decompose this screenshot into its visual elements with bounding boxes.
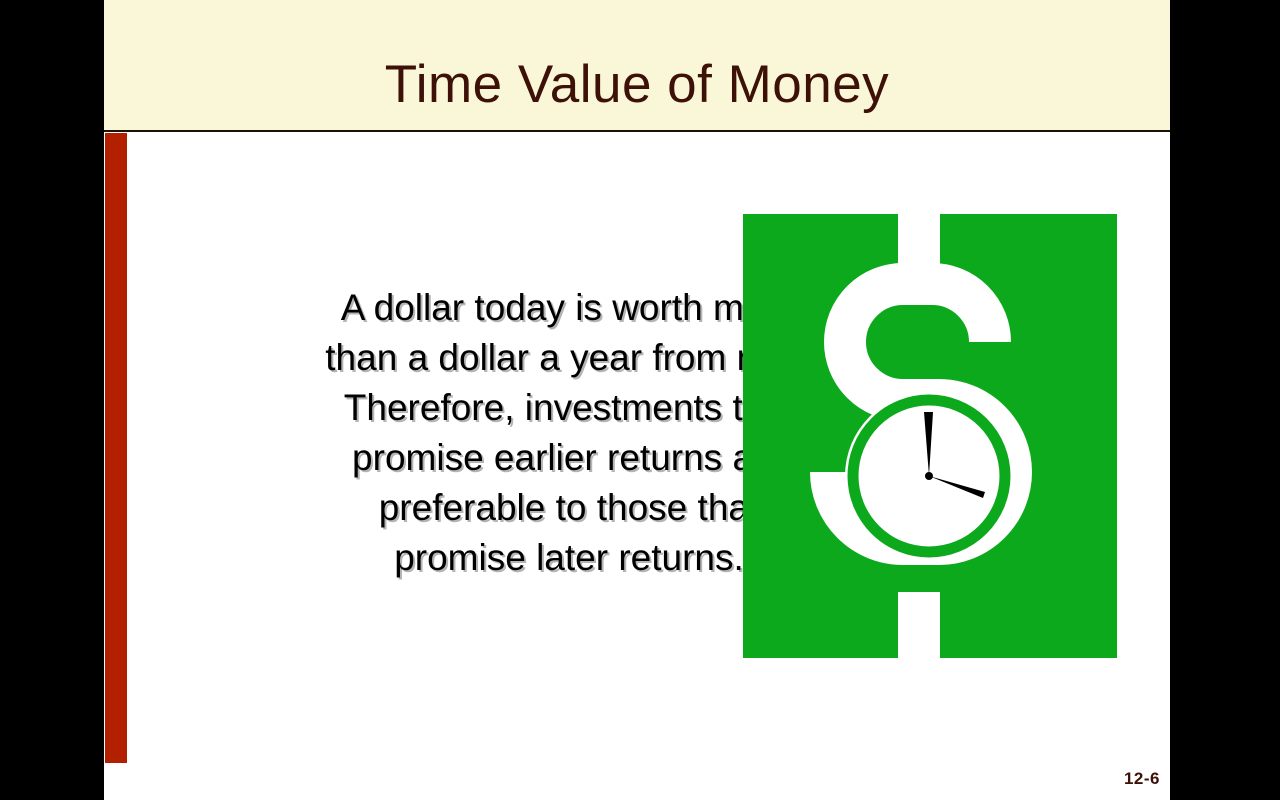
letterbox-right [1170,0,1280,800]
presentation-screen: Time Value of Money A dollar today is wo… [0,0,1280,800]
dollar-sign-clock-icon [743,214,1117,658]
slide-title: Time Value of Money [104,58,1170,111]
clock-center-pin [925,472,933,480]
dollar-sign-clock-graphic [743,214,1117,658]
letterbox-left [0,0,104,800]
accent-bar [105,133,127,763]
page-number: 12-6 [104,769,1160,789]
slide: Time Value of Money A dollar today is wo… [104,0,1170,800]
